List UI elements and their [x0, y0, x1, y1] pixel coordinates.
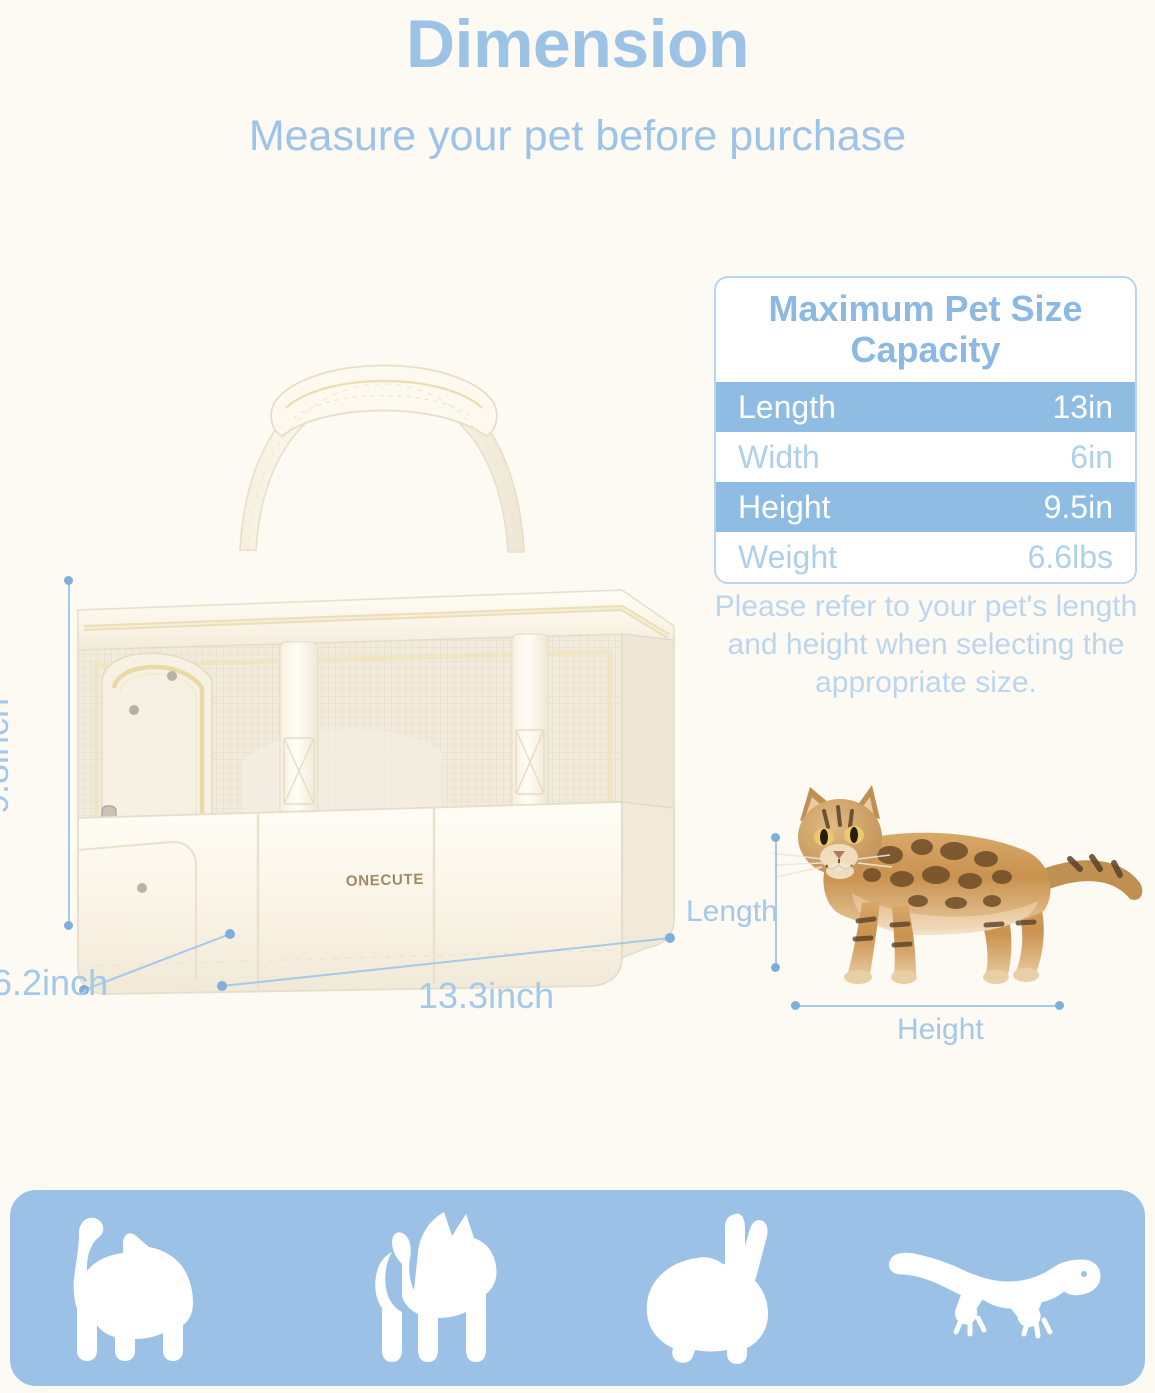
dimension-infographic: Dimension Measure your pet before purcha… — [0, 0, 1155, 1393]
capacity-row-label: Weight — [738, 539, 1028, 576]
capacity-row-label: Length — [738, 389, 1053, 426]
cat-length-endpoint-bottom — [771, 963, 780, 972]
capacity-note: Please refer to your pet's length and he… — [700, 588, 1152, 702]
table-row: Width 6in — [716, 432, 1135, 482]
bag-depth-label: 6.2inch — [0, 962, 108, 1004]
bengal-cat-image — [740, 775, 1150, 1010]
bag-handle-group — [240, 366, 524, 553]
page-title: Dimension — [0, 2, 1155, 86]
cat-length-endpoint-top — [771, 833, 780, 842]
cat-height-endpoint-left — [791, 1001, 800, 1010]
cat-silhouette-icon — [49, 1213, 269, 1363]
capacity-row-value: 6.6lbs — [1028, 539, 1113, 576]
capacity-row-label: Height — [738, 489, 1044, 526]
cat-length-label: Length — [686, 895, 778, 929]
capacity-row-label: Width — [738, 439, 1070, 476]
capacity-table-title: Maximum Pet Size Capacity — [716, 278, 1135, 382]
cat-illustration — [740, 775, 1150, 1010]
capacity-row-value: 9.5in — [1044, 489, 1113, 526]
bag-height-endpoint-top — [64, 576, 73, 585]
dog-silhouette-icon — [348, 1208, 548, 1368]
capacity-table: Maximum Pet Size Capacity Length 13in Wi… — [714, 276, 1137, 584]
capacity-row-value: 13in — [1053, 389, 1114, 426]
rabbit-silhouette-icon — [627, 1208, 807, 1368]
bag-width-label: 13.3inch — [418, 975, 554, 1017]
bag-brand-label: ONECUTE — [346, 871, 425, 890]
pet-carrier-bag-image: ONECUTE — [62, 290, 702, 1010]
strap-anchor — [280, 642, 318, 832]
page-subtitle: Measure your pet before purchase — [0, 108, 1155, 164]
cat-head — [772, 785, 892, 879]
table-row: Length 13in — [716, 382, 1135, 432]
table-row: Weight 6.6lbs — [716, 532, 1135, 582]
cat-height-label: Height — [897, 1013, 984, 1047]
lizard-silhouette-icon — [886, 1228, 1106, 1348]
strap-anchor-right — [512, 634, 548, 822]
bag-illustration: ONECUTE — [62, 290, 702, 1010]
table-row: Height 9.5in — [716, 482, 1135, 532]
supported-pets-banner — [10, 1190, 1145, 1386]
cat-height-dimension-line — [795, 1005, 1059, 1007]
bag-height-label: 9.8inch — [0, 698, 17, 814]
cat-height-endpoint-right — [1055, 1001, 1064, 1010]
cat-tail — [1040, 860, 1142, 900]
capacity-row-value: 6in — [1070, 439, 1113, 476]
bag-height-dimension-line — [68, 580, 70, 925]
